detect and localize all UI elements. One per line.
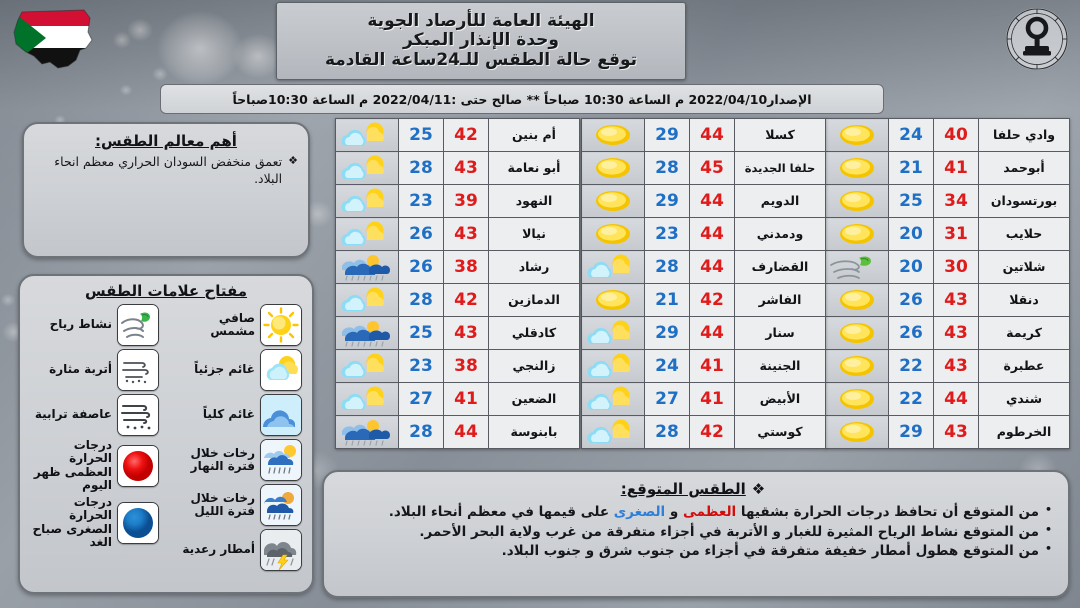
table-row: سنار4429 <box>582 317 826 350</box>
legend-label: نشاط رياح <box>50 318 112 331</box>
highlights-item: ❖ تعمق منخفض السودان الحراري معظم انحاء … <box>34 154 298 188</box>
wind-icon <box>826 251 889 284</box>
max-temp-cell: 44 <box>690 185 735 218</box>
day-showers-icon <box>260 439 302 481</box>
max-temp-cell: 42 <box>690 284 735 317</box>
partly-cloudy-icon <box>336 284 399 317</box>
table-row: حلفا الجديدة4528 <box>582 152 826 185</box>
min-temp-cell: 25 <box>399 317 444 350</box>
city-name-cell: حلايب <box>979 218 1070 251</box>
table-row: رشاد3826 <box>336 251 580 284</box>
min-temp-cell: 25 <box>399 119 444 152</box>
max-temp-cell: 38 <box>444 350 489 383</box>
outlook-text-a: من المتوقع أن تحافظ درجات الحرارة بشقيها <box>741 504 1039 520</box>
table-row: أم بنين4225 <box>336 119 580 152</box>
city-name-cell: سنار <box>735 317 826 350</box>
min-temp-cell: 24 <box>645 350 690 383</box>
sunny-icon <box>582 218 645 251</box>
min-temp-cell: 28 <box>645 251 690 284</box>
day-showers-icon <box>336 251 399 284</box>
legend-label: أمطار رعدية <box>182 543 255 556</box>
table-row: زالنجي3823 <box>336 350 580 383</box>
table-row: أبوحمد4121 <box>826 152 1070 185</box>
max-temp-cell: 41 <box>444 383 489 416</box>
city-name-cell: شندي <box>979 383 1070 416</box>
item-glyph: • <box>1045 523 1052 537</box>
max-temp-cell: 45 <box>690 152 735 185</box>
sunny-icon <box>582 185 645 218</box>
legend-item-thunderstorm: أمطار رعدية <box>173 529 302 571</box>
forecast-table-left: أم بنين4225أبو نعامة4328النهود3923نيالا4… <box>335 118 580 449</box>
city-name-cell: كوستي <box>735 416 826 449</box>
legend-title: مفتاح علامات الطقس <box>28 282 304 300</box>
sunny-icon <box>826 350 889 383</box>
table-row: القضارف4428 <box>582 251 826 284</box>
table-row: الخرطوم4329 <box>826 416 1070 449</box>
outlook-title: ❖ الطقس المتوقع: <box>334 480 1052 498</box>
partly-cloudy-icon <box>336 350 399 383</box>
partly-cloudy-icon <box>260 349 302 391</box>
city-name-cell: كادقلي <box>489 317 580 350</box>
min-temp-cell: 28 <box>645 416 690 449</box>
outlook-text-b: على قيمها في معظم أنحاء البلاد. <box>389 504 609 520</box>
legend-label: رخات خلال فترة الليل <box>173 492 255 519</box>
max-temp-cell: 43 <box>444 152 489 185</box>
table-row: كريمة4326 <box>826 317 1070 350</box>
issue-validity-date: الإصدار2022/04/10 م الساعة 10:30 صباحاً … <box>160 84 884 114</box>
min-temp-cell: 26 <box>399 218 444 251</box>
partly-cloudy-icon <box>582 251 645 284</box>
sunny-icon <box>826 218 889 251</box>
legend-item-night-showers: رخات خلال فترة الليل <box>173 484 302 526</box>
table-row: الضعين4127 <box>336 383 580 416</box>
max-temp-cell: 43 <box>444 317 489 350</box>
city-name-cell: وادي حلفا <box>979 119 1070 152</box>
forecast-table-middle: كسلا4429حلفا الجديدة4528الدويم4429ودمدني… <box>581 118 826 449</box>
city-name-cell: شلاتين <box>979 251 1070 284</box>
sunny-icon <box>826 317 889 350</box>
max-temp-cell: 34 <box>934 185 979 218</box>
sunny-icon <box>582 152 645 185</box>
max-temp-cell: 44 <box>934 383 979 416</box>
blowing-dust-icon <box>117 349 159 391</box>
city-name-cell: النهود <box>489 185 580 218</box>
min-temp-cell: 27 <box>399 383 444 416</box>
max-temp-red-circle-icon <box>117 445 159 487</box>
city-name-cell: الدويم <box>735 185 826 218</box>
legend-label: صافي مشمس <box>173 312 255 339</box>
partly-cloudy-icon <box>582 383 645 416</box>
sunny-icon <box>826 152 889 185</box>
table-row: الفاشر4221 <box>582 284 826 317</box>
sunny-icon <box>826 185 889 218</box>
max-temp-cell: 41 <box>690 383 735 416</box>
forecast-table-right: وادي حلفا4024أبوحمد4121بورتسودان3425حلاي… <box>825 118 1070 449</box>
min-temp-cell: 21 <box>889 152 934 185</box>
legend-item-blowing-dust: أتربة مثارة <box>30 349 159 391</box>
legend-item-wind: نشاط رياح <box>30 304 159 346</box>
city-name-cell: حلفا الجديدة <box>735 152 826 185</box>
legend-label: رخات خلال فترة النهار <box>173 447 255 474</box>
max-temp-cell: 41 <box>934 152 979 185</box>
item-glyph: • <box>1045 542 1052 556</box>
sunny-icon <box>826 119 889 152</box>
max-temp-cell: 44 <box>690 119 735 152</box>
bullet-glyph: ❖ <box>752 480 765 498</box>
min-temp-cell: 28 <box>399 152 444 185</box>
max-temp-cell: 43 <box>934 284 979 317</box>
bullet-glyph: ❖ <box>288 154 298 168</box>
night-showers-icon <box>260 484 302 526</box>
table-row: الأبيض4127 <box>582 383 826 416</box>
city-name-cell: الفاشر <box>735 284 826 317</box>
table-row: الدويم4429 <box>582 185 826 218</box>
partly-cloudy-icon <box>336 383 399 416</box>
outlook-item-2: • من المتوقع نشاط الرياح المثيرة للغبار … <box>334 523 1052 541</box>
city-name-cell: الدمازين <box>489 284 580 317</box>
min-temp-cell: 26 <box>399 251 444 284</box>
table-row: الجنينة4124 <box>582 350 826 383</box>
sunny-icon <box>826 383 889 416</box>
cloudy-icon <box>260 394 302 436</box>
partly-cloudy-icon <box>336 218 399 251</box>
title-line-1: الهيئة العامة للأرصاد الجوية <box>367 12 594 31</box>
max-temp-cell: 43 <box>934 350 979 383</box>
min-temp-cell: 29 <box>645 185 690 218</box>
min-temp-cell: 20 <box>889 251 934 284</box>
partly-cloudy-icon <box>336 185 399 218</box>
legend-item-cloudy: غائم كلياً <box>173 394 302 436</box>
max-temp-cell: 44 <box>690 218 735 251</box>
legend-item-sunny: صافي مشمس <box>173 304 302 346</box>
min-temp-cell: 26 <box>889 317 934 350</box>
city-name-cell: الجنينة <box>735 350 826 383</box>
legend-right-column: صافي مشمس غائم جزئياً <box>173 304 302 571</box>
legend-label: غائم جزئياً <box>194 363 255 376</box>
outlook-item-2-text: من المتوقع نشاط الرياح المثيرة للغبار و … <box>419 523 1039 541</box>
title-line-2: وحدة الإنذار المبكر <box>403 31 559 50</box>
table-row: النهود3923 <box>336 185 580 218</box>
legend-left-column: نشاط رياح أتربة مثارة <box>30 304 159 571</box>
max-temp-cell: 42 <box>444 284 489 317</box>
day-showers-icon <box>336 416 399 449</box>
table-row: شلاتين3020 <box>826 251 1070 284</box>
weather-symbols-legend-panel: مفتاح علامات الطقس صافي مشمس <box>18 274 314 594</box>
max-temp-cell: 40 <box>934 119 979 152</box>
weather-highlights-panel: أهم معالم الطقس: ❖ تعمق منخفض السودان ال… <box>22 122 310 258</box>
max-temp-cell: 42 <box>690 416 735 449</box>
highlights-title: أهم معالم الطقس: <box>34 132 298 150</box>
max-temp-cell: 39 <box>444 185 489 218</box>
city-name-cell: كسلا <box>735 119 826 152</box>
sudan-flag-map-icon <box>6 4 102 72</box>
city-name-cell: أبو نعامة <box>489 152 580 185</box>
min-temp-cell: 22 <box>889 350 934 383</box>
outlook-title-text: الطقس المتوقع: <box>621 480 746 498</box>
city-name-cell: أبوحمد <box>979 152 1070 185</box>
max-temp-cell: 31 <box>934 218 979 251</box>
max-temp-cell: 41 <box>690 350 735 383</box>
legend-item-min-temp: درجات الحرارة الصغرى صباح الغد <box>30 496 159 550</box>
sunny-icon <box>260 304 302 346</box>
table-row: كسلا4429 <box>582 119 826 152</box>
legend-label: أتربة مثارة <box>49 363 112 376</box>
dust-storm-icon <box>117 394 159 436</box>
min-temp-cell: 26 <box>889 284 934 317</box>
city-name-cell: القضارف <box>735 251 826 284</box>
min-temp-cell: 23 <box>645 218 690 251</box>
legend-item-dust-storm: عاصفة ترابية <box>30 394 159 436</box>
min-temp-cell: 24 <box>889 119 934 152</box>
max-temp-cell: 30 <box>934 251 979 284</box>
legend-label: عاصفة ترابية <box>35 408 112 421</box>
city-name-cell: ودمدني <box>735 218 826 251</box>
partly-cloudy-icon <box>582 416 645 449</box>
city-name-cell: كريمة <box>979 317 1070 350</box>
outlook-item-1-text: من المتوقع أن تحافظ درجات الحرارة بشقيها… <box>389 503 1039 521</box>
highlights-item-text: تعمق منخفض السودان الحراري معظم انحاء ال… <box>34 154 282 188</box>
conjunction-word: و <box>670 504 678 520</box>
max-temp-cell: 42 <box>444 119 489 152</box>
city-name-cell: دنقلا <box>979 284 1070 317</box>
max-temp-cell: 44 <box>690 317 735 350</box>
table-row: دنقلا4326 <box>826 284 1070 317</box>
table-row: كادقلي4325 <box>336 317 580 350</box>
min-temp-cell: 21 <box>645 284 690 317</box>
sunny-icon <box>826 416 889 449</box>
table-row: بابنوسة4428 <box>336 416 580 449</box>
city-name-cell: رشاد <box>489 251 580 284</box>
table-row: كوستي4228 <box>582 416 826 449</box>
min-temp-cell: 28 <box>399 416 444 449</box>
partly-cloudy-icon <box>336 152 399 185</box>
max-temp-cell: 44 <box>444 416 489 449</box>
table-row: شندي4422 <box>826 383 1070 416</box>
city-name-cell: أم بنين <box>489 119 580 152</box>
expected-weather-panel: ❖ الطقس المتوقع: • من المتوقع أن تحافظ د… <box>322 470 1070 598</box>
min-temp-cell: 28 <box>399 284 444 317</box>
min-temp-cell: 27 <box>645 383 690 416</box>
sunny-icon <box>582 284 645 317</box>
min-temp-cell: 25 <box>889 185 934 218</box>
legend-item-max-temp: درجات الحرارة العظمى ظهر اليوم <box>30 439 159 493</box>
min-temp-blue-circle-icon <box>117 502 159 544</box>
partly-cloudy-icon <box>336 119 399 152</box>
table-row: الدمازين4228 <box>336 284 580 317</box>
item-glyph: • <box>1045 503 1052 517</box>
city-name-cell: عطبرة <box>979 350 1070 383</box>
outlook-item-3: • من المتوقع هطول أمطار خفيفة متفرقة في … <box>334 542 1052 560</box>
table-row: نيالا4326 <box>336 218 580 251</box>
day-showers-icon <box>336 317 399 350</box>
max-temp-word: العظمى <box>683 504 736 520</box>
outlook-item-1: • من المتوقع أن تحافظ درجات الحرارة بشقي… <box>334 503 1052 521</box>
max-temp-cell: 44 <box>690 251 735 284</box>
max-temp-cell: 43 <box>934 317 979 350</box>
city-name-cell: الضعين <box>489 383 580 416</box>
table-row: بورتسودان3425 <box>826 185 1070 218</box>
thunderstorm-icon <box>260 529 302 571</box>
title-line-3: توقع حالة الطقس للـ24ساعة القادمة <box>325 51 637 70</box>
city-name-cell: بورتسودان <box>979 185 1070 218</box>
city-name-cell: الخرطوم <box>979 416 1070 449</box>
legend-item-partly-cloudy: غائم جزئياً <box>173 349 302 391</box>
min-temp-cell: 23 <box>399 185 444 218</box>
partly-cloudy-icon <box>582 350 645 383</box>
table-row: عطبرة4322 <box>826 350 1070 383</box>
wind-icon <box>117 304 159 346</box>
city-name-cell: نيالا <box>489 218 580 251</box>
min-temp-cell: 29 <box>889 416 934 449</box>
page-title: الهيئة العامة للأرصاد الجوية وحدة الإنذا… <box>276 2 686 80</box>
city-name-cell: بابنوسة <box>489 416 580 449</box>
min-temp-cell: 20 <box>889 218 934 251</box>
min-temp-cell: 23 <box>399 350 444 383</box>
min-temp-cell: 28 <box>645 152 690 185</box>
sunny-icon <box>582 119 645 152</box>
partly-cloudy-icon <box>582 317 645 350</box>
city-name-cell: زالنجي <box>489 350 580 383</box>
table-row: حلايب3120 <box>826 218 1070 251</box>
legend-item-day-showers: رخات خلال فترة النهار <box>173 439 302 481</box>
max-temp-cell: 38 <box>444 251 489 284</box>
max-temp-cell: 43 <box>934 416 979 449</box>
outlook-item-3-text: من المتوقع هطول أمطار خفيفة متفرقة في أج… <box>502 542 1039 560</box>
legend-label: درجات الحرارة الصغرى صباح الغد <box>30 496 112 550</box>
legend-label: غائم كلياً <box>203 408 255 421</box>
sunny-icon <box>826 284 889 317</box>
legend-label: درجات الحرارة العظمى ظهر اليوم <box>30 439 112 493</box>
max-temp-cell: 43 <box>444 218 489 251</box>
min-temp-cell: 29 <box>645 119 690 152</box>
min-temp-cell: 22 <box>889 383 934 416</box>
min-temp-cell: 29 <box>645 317 690 350</box>
table-row: أبو نعامة4328 <box>336 152 580 185</box>
meteorological-authority-emblem-icon <box>1002 6 1072 72</box>
min-temp-word: الصغرى <box>614 504 665 520</box>
city-name-cell: الأبيض <box>735 383 826 416</box>
table-row: ودمدني4423 <box>582 218 826 251</box>
table-row: وادي حلفا4024 <box>826 119 1070 152</box>
